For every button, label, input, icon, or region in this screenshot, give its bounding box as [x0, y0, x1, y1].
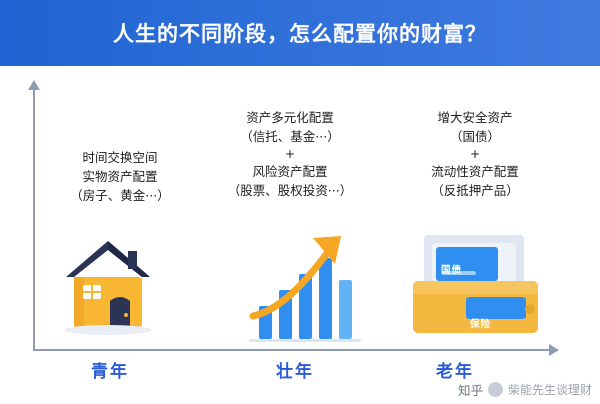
- stage-text-youth: 时间交换空间 实物资产配置 （房子、黄金···）: [40, 148, 200, 205]
- watermark-author: 柴能先生谈理财: [508, 381, 592, 398]
- stage-text-line: 时间交换空间: [40, 148, 200, 167]
- stage-text-line: （反抵押产品）: [390, 181, 560, 200]
- infographic-page: 人生的不同阶段，怎么配置你的财富？ 时间交换空间 实物资产配置 （房子、黄金··…: [0, 0, 600, 404]
- stage-text-line: （房子、黄金···）: [40, 186, 200, 205]
- stage-text-line: 资产多元化配置: [200, 108, 380, 127]
- stage-text-prime: 资产多元化配置 （信托、基金···） + 风险资产配置 （股票、股权投资···）: [200, 108, 380, 200]
- stage-label-prime: 壮年: [240, 357, 350, 382]
- stage-label-youth: 青年: [55, 357, 165, 382]
- stage-text-plus: +: [200, 146, 380, 162]
- stage-text-line: 流动性资产配置: [390, 162, 560, 181]
- stage-text-plus: +: [390, 146, 560, 162]
- horizontal-axis: [33, 349, 551, 351]
- stage-text-line: 增大安全资产: [390, 108, 560, 127]
- header-banner: 人生的不同阶段，怎么配置你的财富？: [0, 0, 600, 66]
- stage-text-senior: 增大安全资产 （国债） + 流动性资产配置 （反抵押产品）: [390, 108, 560, 200]
- watermark-site: 知乎: [458, 380, 483, 399]
- stage-text-line: （股票、股权投资···）: [200, 181, 380, 200]
- stage-text-line: （国债）: [390, 127, 560, 146]
- stage-text-line: （信托、基金···）: [200, 127, 380, 146]
- stage-text-line: 风险资产配置: [200, 162, 380, 181]
- avatar: [488, 382, 503, 397]
- house-illustration-icon: [58, 231, 158, 341]
- watermark: 知乎 柴能先生谈理财: [458, 380, 592, 399]
- horizontal-axis-arrow-icon: [549, 344, 559, 356]
- vertical-axis-arrow-icon: [28, 80, 40, 90]
- bond-card-label: 国债: [441, 262, 462, 276]
- diagram-body: 时间交换空间 实物资产配置 （房子、黄金···） 资产多元化配置 （信托、基金·…: [0, 66, 600, 404]
- stage-text-line: 实物资产配置: [40, 167, 200, 186]
- vertical-axis: [33, 88, 35, 350]
- insurance-card-label: 保险: [470, 316, 491, 330]
- growth-bar-chart-illustration-icon: [245, 218, 370, 343]
- stage-label-senior: 老年: [400, 357, 510, 382]
- page-title: 人生的不同阶段，怎么配置你的财富？: [113, 18, 487, 48]
